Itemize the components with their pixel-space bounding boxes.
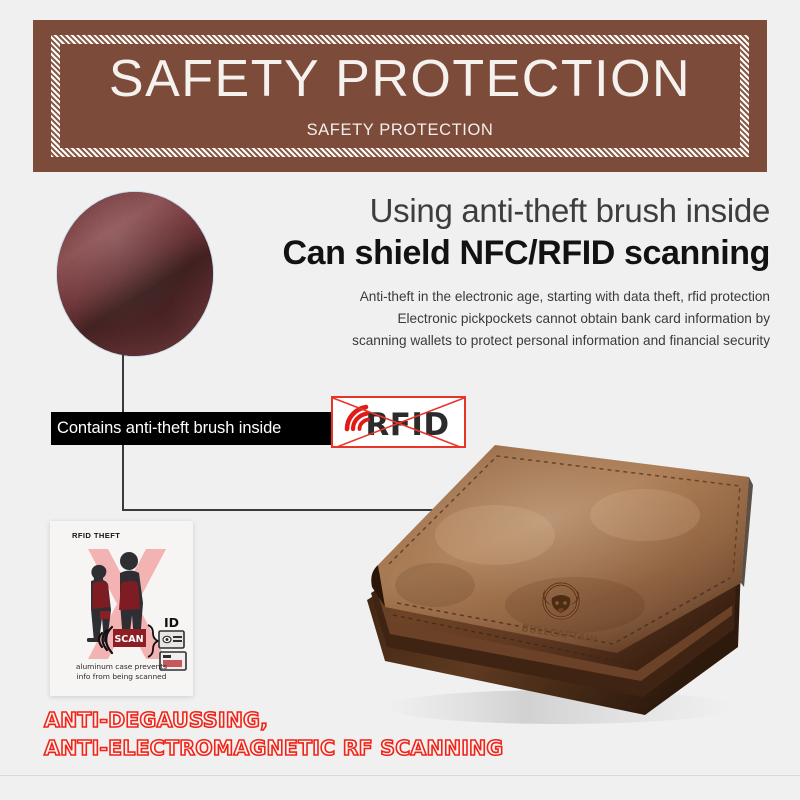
callout-label-text: Contains anti-theft brush inside [57, 419, 281, 438]
body-line-2: Electronic pickpockets cannot obtain ban… [258, 308, 770, 330]
headline-block: Using anti-theft brush inside Can shield… [258, 192, 770, 352]
bottom-divider [0, 775, 800, 776]
fabric-swatch-circle [57, 192, 213, 356]
headline-line-light: Using anti-theft brush inside [258, 192, 770, 231]
wallet-product-image: BULLCAPTAIN [345, 415, 800, 745]
caption-line-2: info from being scanned [50, 672, 193, 683]
body-line-1: Anti-theft in the electronic age, starti… [258, 286, 770, 308]
caption-line-1: aluminum case prevents [50, 662, 193, 673]
bottom-text-line-1: ANTI-DEGAUSSING, [44, 706, 503, 734]
bottom-text-line-2: ANTI-ELECTROMAGNETIC RF SCANNING [44, 734, 503, 762]
banner-subtitle: SAFETY PROTECTION [307, 121, 494, 140]
scan-badge-label: SCAN [114, 634, 143, 645]
bottom-feature-text: ANTI-DEGAUSSING, ANTI-ELECTROMAGNETIC RF… [44, 706, 503, 763]
rfid-theft-info-card: RFID THEFT [50, 521, 193, 696]
banner-text-group: SAFETY PROTECTION SAFETY PROTECTION [33, 20, 767, 172]
body-line-3: scanning wallets to protect personal inf… [258, 330, 770, 352]
banner-title: SAFETY PROTECTION [109, 52, 691, 107]
id-label: ID [164, 615, 179, 630]
headline-body: Anti-theft in the electronic age, starti… [258, 286, 770, 352]
product-infographic-page: SAFETY PROTECTION SAFETY PROTECTION Usin… [0, 0, 800, 800]
id-card-icon-1 [159, 631, 184, 648]
fabric-sheen-overlay [57, 192, 213, 356]
headline-line-bold: Can shield NFC/RFID scanning [258, 233, 770, 274]
callout-label-bar: Contains anti-theft brush inside [51, 412, 332, 445]
theft-card-caption: aluminum case prevents info from being s… [50, 662, 193, 683]
wallet-illustration: BULLCAPTAIN [345, 415, 800, 745]
header-banner: SAFETY PROTECTION SAFETY PROTECTION [33, 20, 767, 172]
